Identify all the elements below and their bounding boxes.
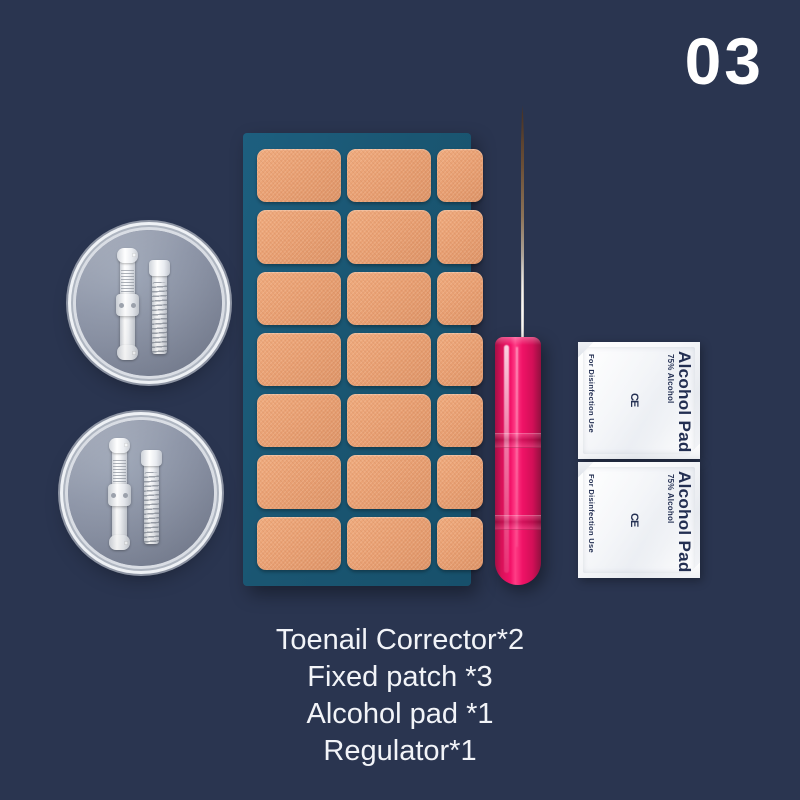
- alcohol-pad-use-text: For Disinfection Use: [587, 474, 596, 553]
- fixed-patch: [437, 333, 483, 386]
- regulator-tool: [495, 105, 543, 585]
- corrector-clip-ridges: [113, 460, 126, 482]
- regulator-handle-highlight: [504, 345, 509, 573]
- contents-caption: Toenail Corrector*2 Fixed patch *3 Alcoh…: [0, 622, 800, 770]
- corrector-screw-strip: [152, 272, 167, 354]
- corrector-clip-notch-right: [123, 493, 128, 498]
- regulator-needle-highlight: [522, 255, 523, 337]
- alcohol-pad-subtitle: 75% Alcohol: [666, 354, 675, 403]
- corrector-clip-foot: [109, 535, 130, 550]
- ce-mark-icon: CE: [628, 513, 640, 526]
- corrector-screw-strip: [144, 462, 159, 544]
- corrector-clip-foot: [117, 345, 138, 360]
- fixed-patch: [347, 455, 431, 508]
- corrector-screw-head: [141, 450, 162, 466]
- corrector-clip-strip: [120, 254, 135, 354]
- corrector-clip-notch-left: [111, 493, 116, 498]
- regulator-handle-cap: [495, 337, 541, 345]
- fixed-patch: [257, 394, 341, 447]
- alcohol-pad-subtitle: 75% Alcohol: [666, 474, 675, 523]
- alcohol-pad-title: Alcohol Pad: [674, 471, 694, 573]
- corrector-clip-middle: [116, 294, 139, 316]
- fixed-patch: [347, 210, 431, 263]
- regulator-handle: [495, 337, 541, 585]
- fixed-patch: [257, 517, 341, 570]
- toenail-corrector-inset-2: [68, 420, 214, 566]
- fixed-patch: [347, 517, 431, 570]
- fixed-patch: [257, 455, 341, 508]
- fixed-patch: [437, 149, 483, 202]
- corrector-screw-head: [149, 260, 170, 276]
- fixed-patch-sheet: [243, 133, 471, 586]
- fixed-patch: [347, 394, 431, 447]
- alcohol-pad-packet: Alcohol Pad 75% Alcohol For Disinfection…: [578, 462, 700, 579]
- fixed-patch: [437, 394, 483, 447]
- fixed-patch: [257, 272, 341, 325]
- alcohol-pad-use-text: For Disinfection Use: [587, 354, 596, 433]
- corrector-clip-dot: [132, 253, 136, 257]
- toenail-corrector-inset-1: [76, 230, 222, 376]
- alcohol-pad-title: Alcohol Pad: [674, 351, 694, 453]
- corrector-clip-head: [117, 248, 138, 263]
- alcohol-pad-pack: Alcohol Pad 75% Alcohol For Disinfection…: [578, 342, 700, 578]
- corrector-clip-strip: [112, 444, 127, 544]
- corrector-clip-middle: [108, 484, 131, 506]
- regulator-grip-ring-lower: [495, 515, 541, 530]
- corrector-clip-dot: [132, 351, 136, 355]
- fixed-patch: [437, 210, 483, 263]
- corrector-clip-notch-right: [131, 303, 136, 308]
- corrector-clip-head: [109, 438, 130, 453]
- corrector-clip-ridges: [121, 270, 134, 292]
- fixed-patch: [437, 455, 483, 508]
- fixed-patch: [347, 333, 431, 386]
- fixed-patch: [347, 272, 431, 325]
- caption-line: Toenail Corrector*2: [0, 622, 800, 659]
- fixed-patch: [437, 517, 483, 570]
- corrector-clip-dot: [124, 541, 128, 545]
- product-image-scene: 03: [0, 0, 800, 800]
- caption-line: Alcohol pad *1: [0, 696, 800, 733]
- fixed-patch: [347, 149, 431, 202]
- alcohol-pad-packet: Alcohol Pad 75% Alcohol For Disinfection…: [578, 342, 700, 459]
- ce-mark-icon: CE: [628, 393, 640, 406]
- fixed-patch: [257, 333, 341, 386]
- corrector-clip-notch-left: [119, 303, 124, 308]
- corrector-screw-threads: [144, 472, 159, 544]
- regulator-grip-ring-upper: [495, 433, 541, 448]
- fixed-patch: [437, 272, 483, 325]
- caption-line: Regulator*1: [0, 733, 800, 770]
- corrector-clip-dot: [124, 443, 128, 447]
- fixed-patch: [257, 149, 341, 202]
- fixed-patch: [257, 210, 341, 263]
- corrector-screw-threads: [152, 282, 167, 354]
- step-number-badge: 03: [685, 28, 764, 94]
- caption-line: Fixed patch *3: [0, 659, 800, 696]
